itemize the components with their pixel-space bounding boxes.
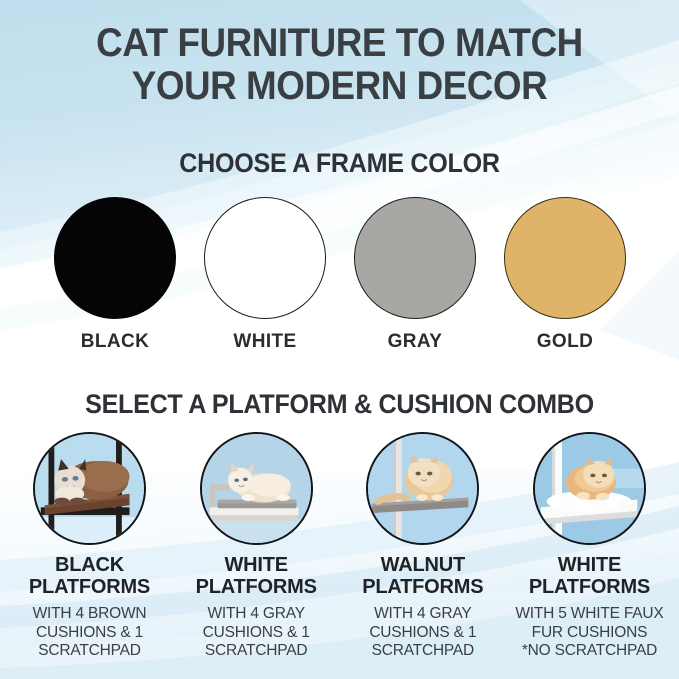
combo-title-walnut-platforms: WALNUT PLATFORMS [362,555,483,598]
swatch-option-white[interactable]: WHITE [195,197,335,353]
page-title-line-1: CAT FURNITURE TO MATCH [27,22,652,65]
color-swatch-circle-white[interactable] [204,197,326,319]
swatch-label-white: WHITE [233,331,296,353]
cat-photo-ginger-walnut-platform [368,434,477,543]
combo-title-white-platforms-gray: WHITE PLATFORMS [196,555,317,598]
combo-subtitle-black-platforms: WITH 4 BROWN CUSHIONS & 1 SCRATCHPAD [33,605,147,661]
combo-sub-line-3: SCRATCHPAD [38,642,141,659]
combo-sub-line-2: CUSHIONS & 1 [369,624,476,641]
combo-sub-line-2: CUSHIONS & 1 [203,624,310,641]
color-swatch-circle-gray[interactable] [354,197,476,319]
combo-photo-white-platforms-faux-fur[interactable] [533,432,646,545]
combo-title-line-2: PLATFORMS [196,576,317,598]
frame-color-swatch-row: BLACK WHITE GRAY GOLD [40,197,640,353]
combo-subtitle-walnut-platforms: WITH 4 GRAY CUSHIONS & 1 SCRATCHPAD [369,605,476,661]
cat-photo-ginger-white-faux-fur [535,434,644,543]
combo-sub-line-1: WITH 4 GRAY [207,605,304,622]
combo-title-line-2: PLATFORMS [529,576,650,598]
color-swatch-circle-gold[interactable] [504,197,626,319]
combo-sub-line-2: FUR CUSHIONS [532,624,648,641]
combo-sub-line-3: SCRATCHPAD [205,642,308,659]
swatch-label-black: BLACK [81,331,150,353]
content-root: CAT FURNITURE TO MATCH YOUR MODERN DECOR… [0,0,679,679]
combo-title-line-1: WHITE [224,554,287,576]
combo-sub-line-3: SCRATCHPAD [372,642,475,659]
combo-title-line-1: BLACK [55,554,124,576]
combo-photo-walnut-platforms[interactable] [366,432,479,545]
combo-title-line-2: PLATFORMS [362,576,483,598]
combo-title-line-1: WHITE [558,554,621,576]
cat-photo-cream-kitten-gray-cushion [202,434,311,543]
combo-subtitle-white-platforms-faux-fur: WITH 5 WHITE FAUX FUR CUSHIONS *NO SCRAT… [515,605,663,661]
combo-option-white-platforms-faux-fur[interactable]: WHITE PLATFORMS WITH 5 WHITE FAUX FUR CU… [508,432,671,661]
combo-title-line-1: WALNUT [381,554,465,576]
frame-color-section-heading: CHOOSE A FRAME COLOR [24,148,655,179]
swatch-option-black[interactable]: BLACK [45,197,185,353]
combo-option-white-platforms-gray[interactable]: WHITE PLATFORMS WITH 4 GRAY CUSHIONS & 1… [175,432,338,661]
swatch-label-gray: GRAY [388,331,443,353]
color-swatch-circle-black[interactable] [54,197,176,319]
combo-option-black-platforms[interactable]: BLACK PLATFORMS WITH 4 BROWN CUSHIONS & … [8,432,171,661]
combo-sub-line-1: WITH 4 BROWN [33,605,147,622]
swatch-option-gold[interactable]: GOLD [495,197,635,353]
page-title-line-2: YOUR MODERN DECOR [27,65,652,108]
combo-subtitle-white-platforms-gray: WITH 4 GRAY CUSHIONS & 1 SCRATCHPAD [203,605,310,661]
combo-section-heading: SELECT A PLATFORM & CUSHION COMBO [24,389,655,420]
combo-sub-line-2: CUSHIONS & 1 [36,624,143,641]
page-title: CAT FURNITURE TO MATCH YOUR MODERN DECOR [27,22,652,108]
cat-photo-siamese-brown-cushion [35,434,144,543]
combo-title-white-platforms-faux-fur: WHITE PLATFORMS [529,555,650,598]
swatch-label-gold: GOLD [537,331,594,353]
combo-title-line-2: PLATFORMS [29,576,150,598]
combo-photo-black-platforms[interactable] [33,432,146,545]
combo-sub-line-3: *NO SCRATCHPAD [522,642,657,659]
combo-title-black-platforms: BLACK PLATFORMS [29,555,150,598]
combo-photo-white-platforms-gray[interactable] [200,432,313,545]
combo-option-walnut-platforms[interactable]: WALNUT PLATFORMS WITH 4 GRAY CUSHIONS & … [341,432,504,661]
swatch-option-gray[interactable]: GRAY [345,197,485,353]
product-infographic: CAT FURNITURE TO MATCH YOUR MODERN DECOR… [0,0,679,679]
combo-sub-line-1: WITH 5 WHITE FAUX [515,605,663,622]
combo-sub-line-1: WITH 4 GRAY [374,605,471,622]
platform-cushion-combo-row: BLACK PLATFORMS WITH 4 BROWN CUSHIONS & … [8,432,671,661]
